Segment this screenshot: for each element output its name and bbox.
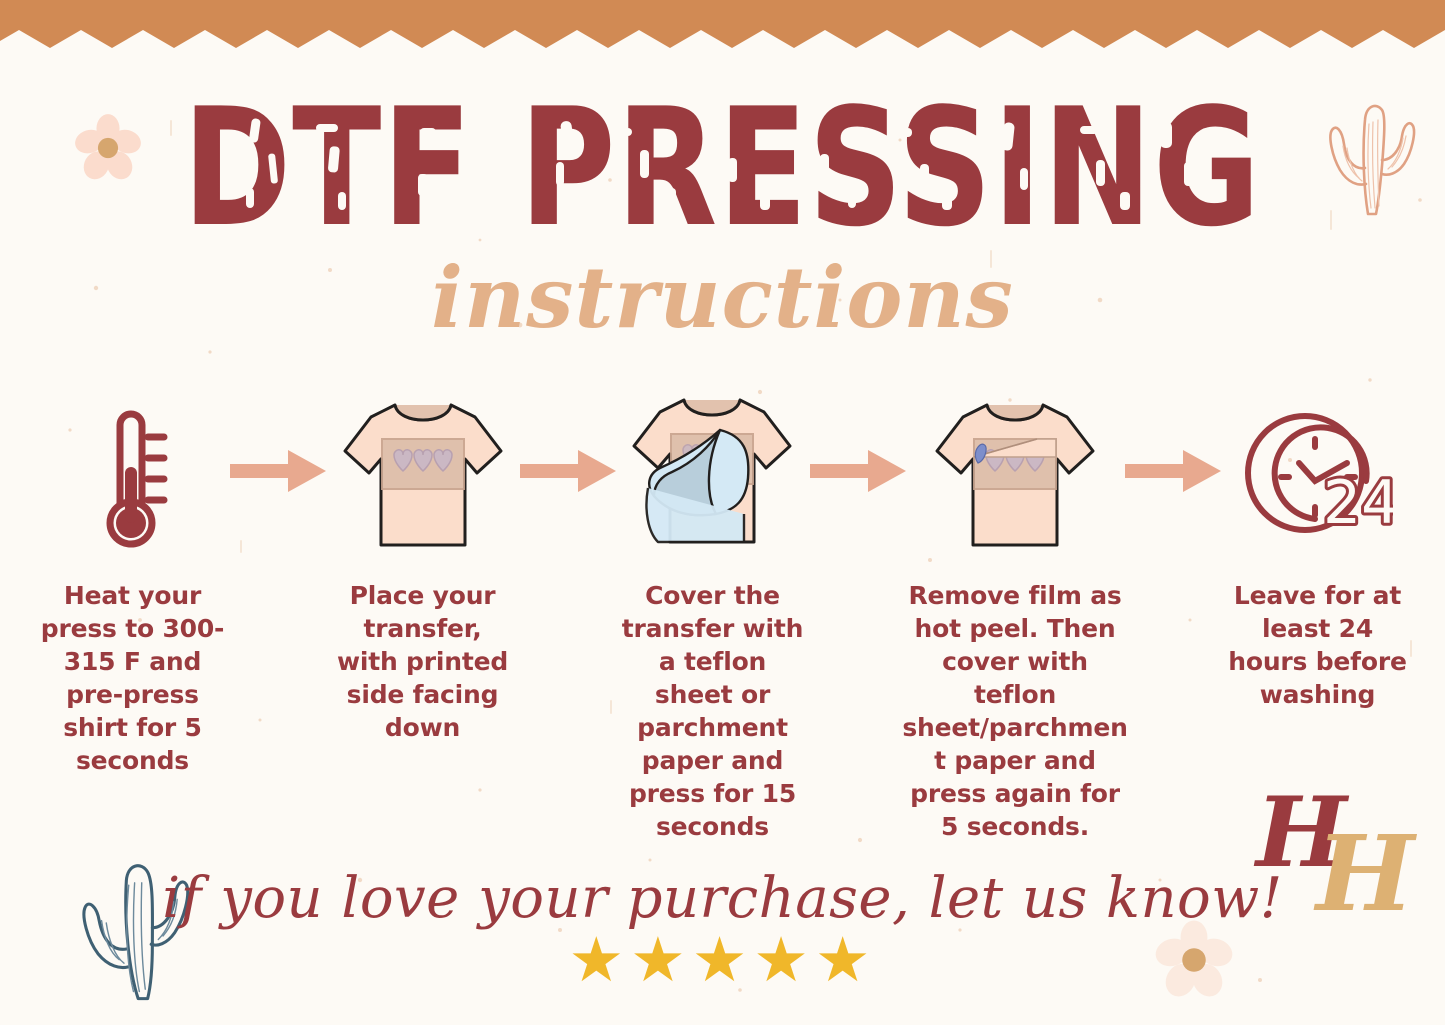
thermometer-icon	[90, 395, 176, 555]
arrow-3	[805, 392, 910, 492]
step-1-label: Heat your press to 300-315 F and pre-pre…	[40, 579, 225, 777]
arrow-4	[1120, 392, 1225, 492]
step-2-label: Place your transfer, with printed side f…	[330, 579, 515, 744]
step-4: Remove film as hot peel. Then cover with…	[910, 392, 1120, 843]
tshirt-peel-film-icon	[929, 397, 1101, 552]
arrow-right-icon	[230, 450, 326, 492]
tshirt-teflon-sheet-icon	[624, 392, 802, 557]
clock-24-icon: 24 24	[1243, 401, 1393, 549]
star-rating: ★★★★★	[0, 930, 1445, 992]
step-1: Heat your press to 300-315 F and pre-pre…	[40, 392, 225, 777]
top-zigzag-band	[0, 0, 1445, 48]
step-5: 24 24 Leave for at least 24 hours before…	[1225, 392, 1410, 711]
arrow-right-icon	[1125, 450, 1221, 492]
arrow-1	[225, 392, 330, 492]
instruction-poster: H H DTF PRESSING	[0, 0, 1445, 1025]
step-2-icon-wrap	[337, 392, 509, 557]
step-3: Cover the transfer with a teflon sheet o…	[620, 392, 805, 843]
footer-tagline: if you love your purchase, let us know!	[0, 866, 1445, 931]
step-2: Place your transfer, with printed side f…	[330, 392, 515, 744]
page-title: DTF PRESSING	[14, 88, 1430, 249]
arrow-2	[515, 392, 620, 492]
page-subtitle: instructions	[0, 248, 1445, 347]
step-5-label: Leave for at least 24 hours before washi…	[1225, 579, 1410, 711]
tshirt-transfer-icon	[337, 397, 509, 552]
arrow-right-icon	[810, 450, 906, 492]
svg-text:24: 24	[1323, 468, 1393, 538]
step-4-label: Remove film as hot peel. Then cover with…	[902, 579, 1127, 843]
step-5-icon-wrap: 24 24	[1243, 392, 1393, 557]
step-3-icon-wrap	[624, 392, 802, 557]
poster-title-block: DTF PRESSING	[0, 88, 1445, 220]
step-1-icon-wrap	[90, 392, 176, 557]
step-3-label: Cover the transfer with a teflon sheet o…	[620, 579, 805, 843]
steps-row: Heat your press to 300-315 F and pre-pre…	[40, 392, 1410, 843]
arrow-right-icon	[520, 450, 616, 492]
step-4-icon-wrap	[929, 392, 1101, 557]
